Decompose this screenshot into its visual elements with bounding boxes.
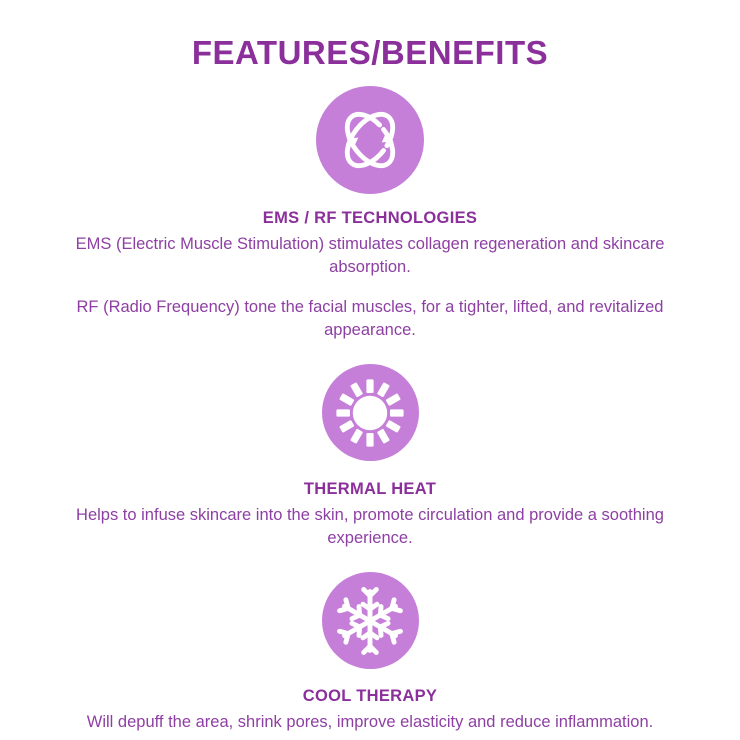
feature-block-cool-therapy: COOL THERAPY Will depuff the area, shrin…	[0, 572, 740, 734]
feature-body-thermal-heat: Helps to infuse skincare into the skin, …	[40, 504, 700, 550]
feature-body-cool-therapy: Will depuff the area, shrink pores, impr…	[15, 711, 725, 734]
sun-icon	[322, 364, 419, 461]
feature-title-ems-rf: EMS / RF TECHNOLOGIES	[0, 209, 740, 229]
feature-block-thermal-heat: THERMAL HEAT Helps to infuse skincare in…	[0, 364, 740, 550]
feature-title-cool-therapy: COOL THERAPY	[0, 687, 740, 707]
orbit-atom-icon	[316, 86, 424, 194]
feature-title-thermal-heat: THERMAL HEAT	[0, 480, 740, 500]
features-benefits-page: FEATURES/BENEFITS EMS / RF TECHNOLOGIES …	[0, 0, 740, 740]
page-title: FEATURES/BENEFITS	[0, 0, 740, 69]
snowflake-icon	[322, 572, 419, 669]
feature-body-rf: RF (Radio Frequency) tone the facial mus…	[40, 296, 700, 342]
feature-block-ems-rf: EMS / RF TECHNOLOGIES EMS (Electric Musc…	[0, 86, 740, 342]
feature-body-ems: EMS (Electric Muscle Stimulation) stimul…	[40, 233, 700, 279]
